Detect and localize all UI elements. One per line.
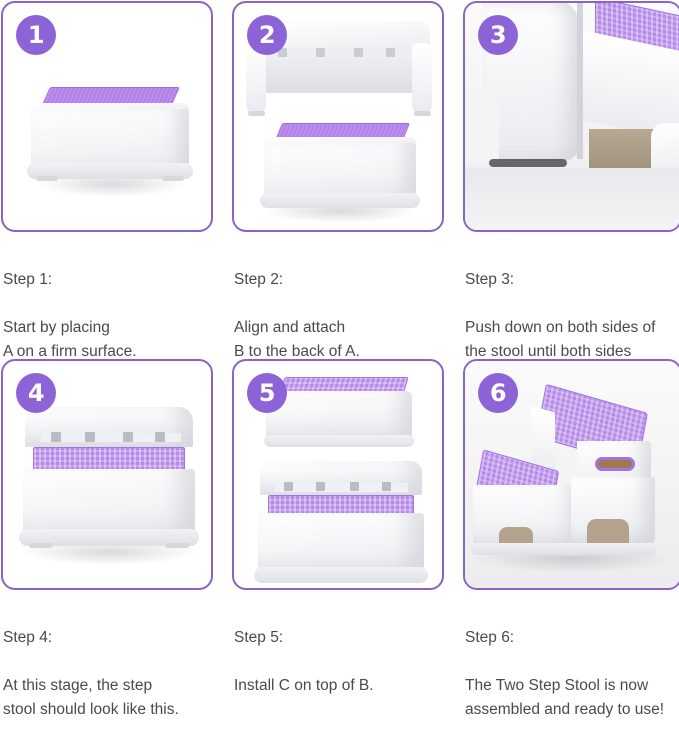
step4-foot-right	[165, 543, 189, 548]
step-badge-5: 5	[247, 373, 287, 413]
step-title-5: Step 5:	[234, 626, 436, 650]
step4-foot-left	[29, 543, 53, 548]
step-body-6: The Two Step Stool is now assembled and …	[465, 674, 674, 722]
part-b-clip-2	[316, 48, 325, 57]
step-badge-3: 3	[478, 15, 518, 55]
step-badge-4: 4	[16, 373, 56, 413]
stool-foot-left	[36, 176, 58, 181]
part-b-leg-right	[412, 43, 432, 115]
part-c-base	[264, 435, 414, 447]
stool-foot-right	[162, 176, 184, 181]
step-image-panel-3: 3	[463, 1, 679, 232]
step-image-panel-5: 5	[232, 359, 444, 590]
step-body-4: At this stage, the step stool should loo…	[3, 674, 205, 722]
part-b-foot-right	[414, 111, 431, 116]
step4-clip-1	[51, 432, 61, 442]
step-title-4: Step 4:	[3, 626, 205, 650]
step-caption-1: Step 1: Start by placing A on a firm sur…	[1, 232, 213, 358]
step-image-panel-6: 6	[463, 359, 679, 590]
step-cell-5: 5	[232, 359, 444, 716]
part-a-base	[260, 193, 420, 208]
step-image-panel-4: 4	[1, 359, 213, 590]
step-cell-4: 4	[1, 359, 213, 716]
closeup-floor	[465, 168, 679, 230]
step-badge-6: 6	[478, 373, 518, 413]
step-title-6: Step 6:	[465, 626, 674, 650]
step-caption-5: Step 5: Install C on top of B.	[232, 590, 444, 716]
step-caption-3: Step 3: Push down on both sides of the s…	[463, 232, 679, 358]
part-b-foot-left	[248, 111, 265, 116]
step4-clip-4	[155, 432, 165, 442]
step6-foot-cutout-right	[587, 519, 629, 543]
step-body-1: Start by placing A on a firm surface.	[3, 316, 205, 364]
steps-row-1: 1 Step 1: Start by p	[0, 0, 679, 358]
step-title-3: Step 3:	[465, 268, 674, 292]
step-cell-6: 6	[463, 359, 679, 716]
step-caption-4: Step 4: At this stage, the step stool sh…	[1, 590, 213, 716]
step-cell-2: 2	[232, 1, 444, 358]
step4-clip-3	[123, 432, 133, 442]
step-body-2: Align and attach B to the back of A.	[234, 316, 436, 364]
instruction-sheet: 1 Step 1: Start by p	[0, 0, 679, 671]
part-b-back-wall	[260, 57, 418, 93]
step5-base	[254, 567, 428, 583]
step5-clip-2	[316, 482, 325, 491]
closeup-left-gap	[465, 91, 499, 163]
part-b-clip-3	[354, 48, 363, 57]
step-badge-2: 2	[247, 15, 287, 55]
step5-clip-1	[284, 482, 293, 491]
step-caption-2: Step 2: Align and attach B to the back o…	[232, 232, 444, 358]
step-cell-1: 1 Step 1: Start by p	[1, 1, 213, 358]
step4-clip-2	[85, 432, 95, 442]
step5-clip-3	[350, 482, 359, 491]
closeup-foot-pad	[489, 159, 567, 167]
step-badge-1: 1	[16, 15, 56, 55]
step6-base-rail	[471, 543, 657, 555]
step6-handle-slot	[595, 457, 635, 471]
steps-row-2: 4	[0, 358, 679, 716]
step-body-5: Install C on top of B.	[234, 674, 436, 698]
step-image-panel-1: 1	[1, 1, 213, 232]
step-title-1: Step 1:	[3, 268, 205, 292]
step-image-panel-2: 2	[232, 1, 444, 232]
part-b-clip-4	[386, 48, 395, 57]
step-title-2: Step 2:	[234, 268, 436, 292]
step-cell-3: 3 Step	[463, 1, 679, 358]
closeup-seam	[577, 1, 583, 159]
step-caption-6: Step 6: The Two Step Stool is now assemb…	[463, 590, 679, 716]
step5-clip-4	[382, 482, 391, 491]
